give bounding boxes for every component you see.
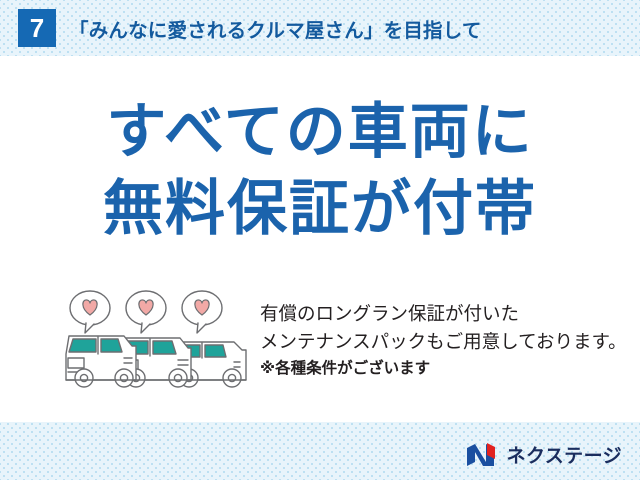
- nextage-n-mark-icon: [466, 442, 500, 468]
- promotional-banner: 7 「みんなに愛されるクルマ屋さん」を目指して すべての車両に 無料保証が付帯: [0, 0, 640, 480]
- heart-speech-bubble-1: [70, 291, 110, 333]
- info-row: 有償のロングラン保証が付いた メンテナンスパックもご用意しております。 ※各種条…: [0, 288, 640, 408]
- body-line-1: 有償のロングラン保証が付いた: [260, 300, 627, 328]
- brand-name: ネクステージ: [507, 441, 622, 468]
- brand-logo: ネクステージ: [466, 441, 622, 468]
- headline-line-2: 無料保証が付帯: [0, 171, 640, 248]
- body-note: ※各種条件がございます: [260, 357, 627, 380]
- body-copy: 有償のロングラン保証が付いた メンテナンスパックもご用意しております。 ※各種条…: [260, 300, 627, 380]
- content-card: すべての車両に 無料保証が付帯: [0, 56, 640, 422]
- heart-speech-bubble-3: [182, 291, 222, 333]
- banner-header: 7 「みんなに愛されるクルマ屋さん」を目指して: [0, 0, 640, 56]
- header-title: 「みんなに愛されるクルマ屋さん」を目指して: [69, 14, 482, 43]
- step-number-badge: 7: [18, 9, 56, 47]
- headline: すべての車両に 無料保証が付帯: [0, 94, 640, 248]
- heart-speech-bubble-2: [126, 291, 166, 333]
- cars-with-hearts-illustration: [58, 288, 258, 398]
- car-kei-wagon: [66, 336, 136, 387]
- body-line-2: メンテナンスパックもご用意しております。: [260, 328, 627, 356]
- headline-line-1: すべての車両に: [0, 94, 640, 171]
